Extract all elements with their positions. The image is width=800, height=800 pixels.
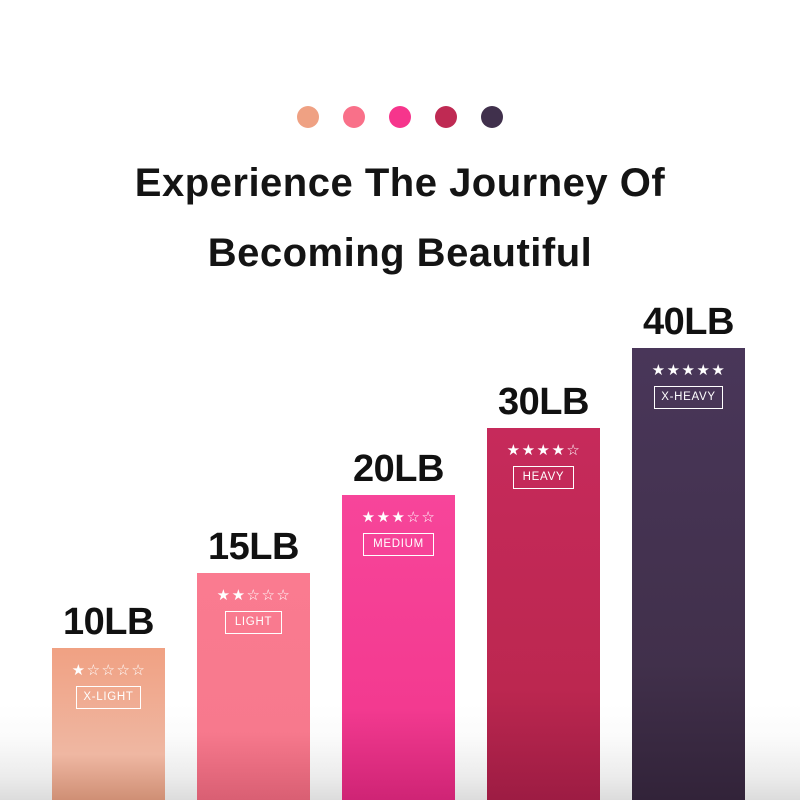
star-filled-icon: ★ bbox=[377, 509, 391, 526]
infographic-canvas: Experience The Journey Of Becoming Beaut… bbox=[0, 0, 800, 800]
star-empty-icon: ☆ bbox=[247, 587, 261, 604]
bar-weight-label: 40LB bbox=[643, 300, 734, 344]
star-filled-icon: ★ bbox=[522, 442, 536, 459]
star-filled-icon: ★ bbox=[652, 362, 666, 379]
star-empty-icon: ☆ bbox=[102, 662, 116, 679]
star-filled-icon: ★ bbox=[507, 442, 521, 459]
star-filled-icon: ★ bbox=[537, 442, 551, 459]
star-rating: ★★★☆☆ bbox=[362, 509, 436, 526]
resistance-level-badge: X-LIGHT bbox=[76, 686, 140, 709]
bar-badge-stack: ★★★★☆HEAVY bbox=[487, 442, 600, 489]
bar-rect[interactable]: ★★★★☆HEAVY bbox=[487, 428, 600, 800]
star-filled-icon: ★ bbox=[362, 509, 376, 526]
star-rating: ★★☆☆☆ bbox=[217, 587, 291, 604]
star-empty-icon: ☆ bbox=[261, 587, 275, 604]
bar-group-40lb[interactable]: 40LB★★★★★X-HEAVY bbox=[632, 298, 745, 800]
star-empty-icon: ☆ bbox=[87, 662, 101, 679]
star-filled-icon: ★ bbox=[696, 362, 710, 379]
resistance-level-badge: HEAVY bbox=[513, 466, 575, 489]
bar-badge-stack: ★★★★★X-HEAVY bbox=[632, 362, 745, 409]
bar-rect[interactable]: ★★★★★X-HEAVY bbox=[632, 348, 745, 800]
bar-group-20lb[interactable]: 20LB★★★☆☆MEDIUM bbox=[342, 445, 455, 800]
star-empty-icon: ☆ bbox=[131, 662, 145, 679]
bar-badge-stack: ★★★☆☆MEDIUM bbox=[342, 509, 455, 556]
bar-badge-stack: ★★☆☆☆LIGHT bbox=[197, 587, 310, 634]
bar-weight-label: 20LB bbox=[353, 447, 444, 491]
star-empty-icon: ☆ bbox=[566, 442, 580, 459]
star-empty-icon: ☆ bbox=[116, 662, 130, 679]
resistance-level-badge: MEDIUM bbox=[363, 533, 434, 556]
star-filled-icon: ★ bbox=[551, 442, 565, 459]
resistance-level-badge: LIGHT bbox=[225, 611, 282, 634]
star-filled-icon: ★ bbox=[392, 509, 406, 526]
bar-weight-label: 30LB bbox=[498, 380, 589, 424]
bar-weight-label: 10LB bbox=[63, 600, 154, 644]
star-filled-icon: ★ bbox=[682, 362, 696, 379]
star-rating: ★★★★☆ bbox=[507, 442, 581, 459]
bar-rect[interactable]: ★☆☆☆☆X-LIGHT bbox=[52, 648, 165, 800]
bar-rect[interactable]: ★★★☆☆MEDIUM bbox=[342, 495, 455, 800]
star-filled-icon: ★ bbox=[711, 362, 725, 379]
star-filled-icon: ★ bbox=[217, 587, 231, 604]
star-empty-icon: ☆ bbox=[276, 587, 290, 604]
star-filled-icon: ★ bbox=[72, 662, 86, 679]
bar-badge-stack: ★☆☆☆☆X-LIGHT bbox=[52, 662, 165, 709]
star-filled-icon: ★ bbox=[667, 362, 681, 379]
star-empty-icon: ☆ bbox=[406, 509, 420, 526]
star-empty-icon: ☆ bbox=[421, 509, 435, 526]
bar-weight-label: 15LB bbox=[208, 525, 299, 569]
star-rating: ★★★★★ bbox=[652, 362, 726, 379]
bar-group-30lb[interactable]: 30LB★★★★☆HEAVY bbox=[487, 378, 600, 800]
resistance-band-bar-chart: 10LB★☆☆☆☆X-LIGHT15LB★★☆☆☆LIGHT20LB★★★☆☆M… bbox=[0, 0, 800, 800]
star-filled-icon: ★ bbox=[232, 587, 246, 604]
bar-group-10lb[interactable]: 10LB★☆☆☆☆X-LIGHT bbox=[52, 598, 165, 800]
star-rating: ★☆☆☆☆ bbox=[72, 662, 146, 679]
resistance-level-badge: X-HEAVY bbox=[654, 386, 723, 409]
bar-group-15lb[interactable]: 15LB★★☆☆☆LIGHT bbox=[197, 523, 310, 800]
bar-rect[interactable]: ★★☆☆☆LIGHT bbox=[197, 573, 310, 800]
